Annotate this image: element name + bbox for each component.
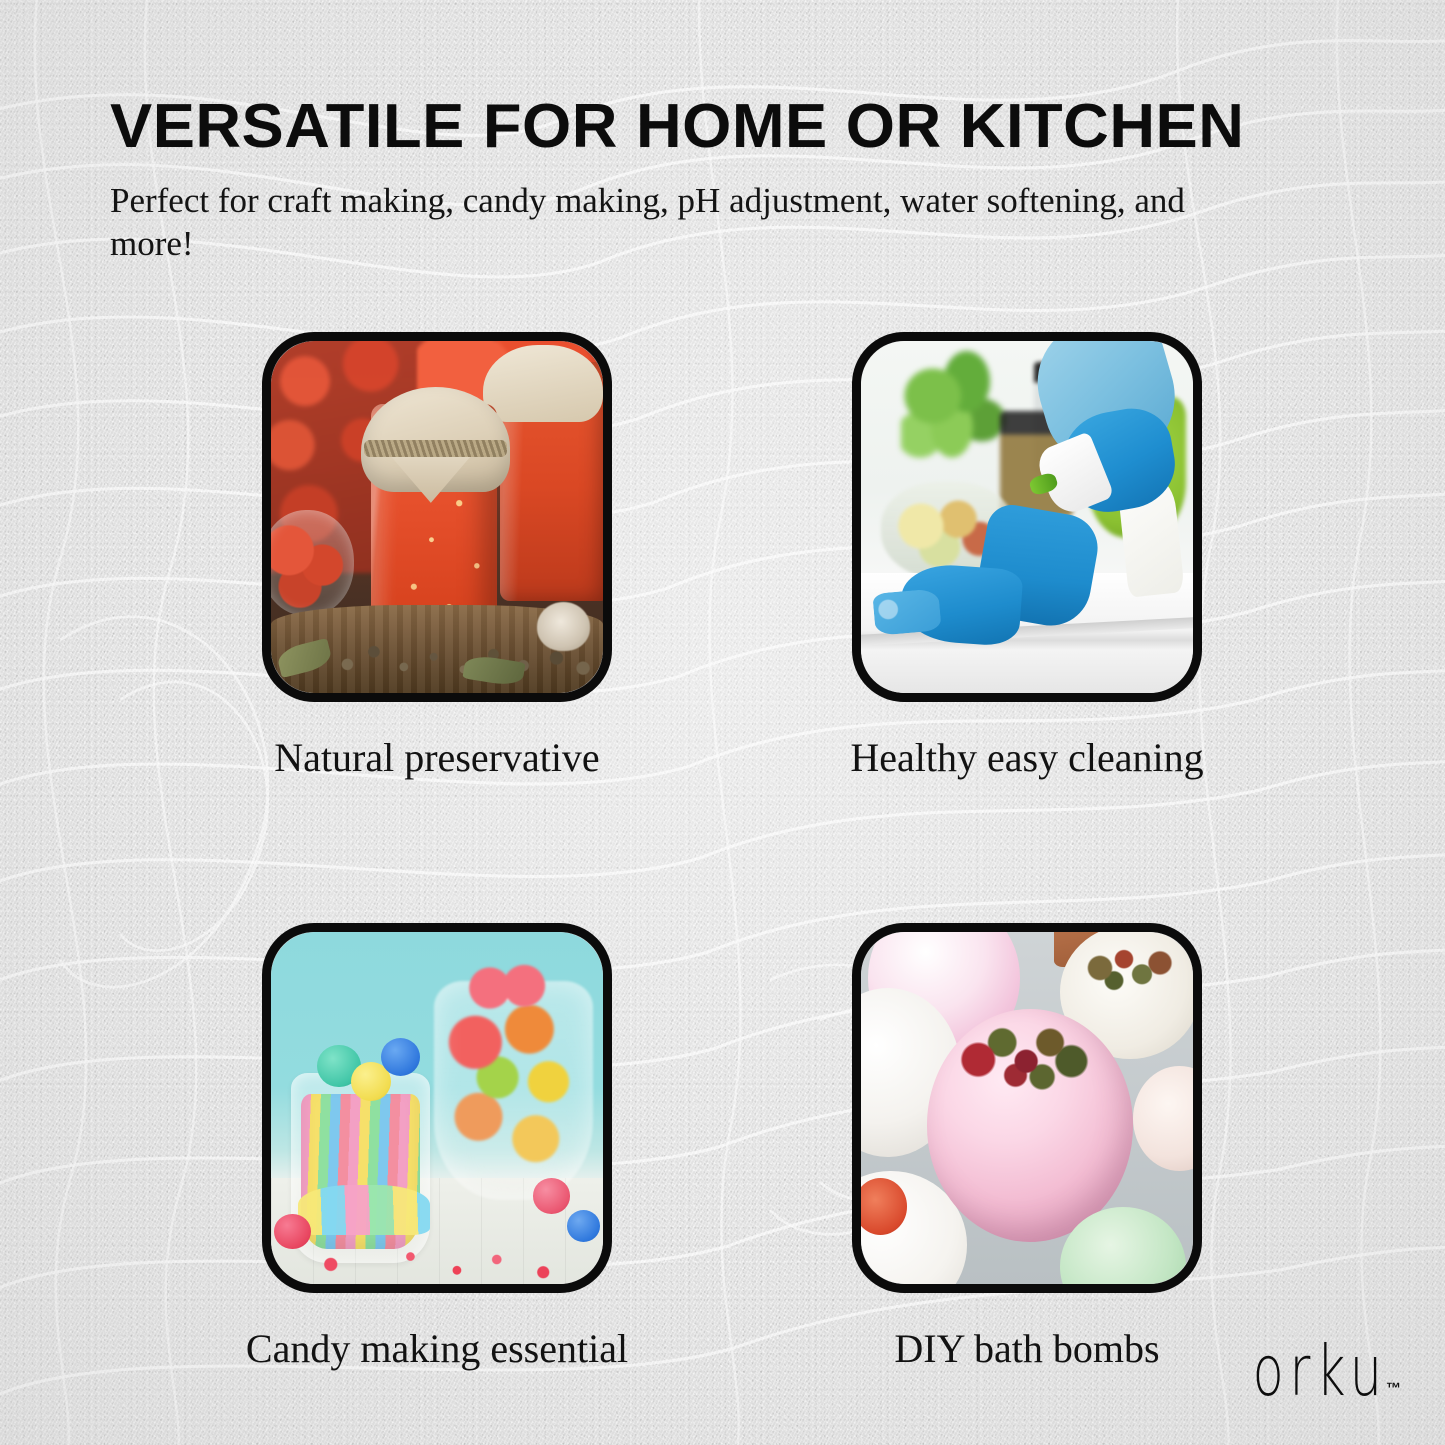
infographic-page: VERSATILE FOR HOME OR KITCHEN Perfect fo…: [0, 0, 1445, 1445]
logo-wordmark: orku: [1253, 1341, 1388, 1403]
cleaning-cloth: [873, 588, 943, 636]
scene-bath: [861, 932, 1193, 1284]
glass-bowl-tomatoes: [271, 510, 354, 616]
feature-cell-cleaning: Healthy easy cleaning: [852, 332, 1202, 780]
feature-image-preservative: [262, 332, 612, 702]
scene-candy: [271, 932, 603, 1284]
feature-cell-preservative: Natural preservative: [262, 332, 612, 780]
brand-logo: orku ™: [1223, 1347, 1401, 1403]
feature-image-cleaning: [852, 332, 1202, 702]
feature-caption: Healthy easy cleaning: [850, 702, 1203, 780]
header-block: VERSATILE FOR HOME OR KITCHEN Perfect fo…: [110, 96, 1350, 265]
scattered-candies: [271, 1235, 603, 1284]
green-plant: [901, 348, 1007, 468]
main-dried-rose-petals: [957, 1016, 1090, 1093]
feature-image-bath-bombs: [852, 923, 1202, 1293]
top-right-dried-petals: [1080, 939, 1180, 1002]
page-title: VERSATILE FOR HOME OR KITCHEN: [110, 96, 1375, 158]
preserved-tomatoes-photo: [271, 341, 603, 693]
feature-caption: DIY bath bombs: [894, 1293, 1159, 1371]
scene-preserve: [271, 341, 603, 693]
kitchen-cleaning-photo: [861, 341, 1193, 693]
feature-grid: Natural preservative: [262, 332, 1202, 1371]
feature-caption: Candy making essential: [246, 1293, 628, 1371]
pink-berry-candy-right: [533, 1178, 570, 1213]
trademark-symbol: ™: [1386, 1380, 1401, 1403]
jar-twine: [364, 440, 507, 458]
candy-jars-photo: [271, 932, 603, 1284]
sour-belt-fold: [298, 1185, 431, 1234]
feature-row-top: Natural preservative: [262, 332, 1202, 780]
feature-cell-bath-bombs: DIY bath bombs: [852, 923, 1202, 1371]
feature-image-candy: [262, 923, 612, 1293]
bath-bombs-photo: [861, 932, 1193, 1284]
blue-gumdrop: [381, 1038, 421, 1077]
feature-cell-candy: Candy making essential: [262, 923, 612, 1371]
garlic-bulb: [537, 602, 590, 651]
page-subtitle: Perfect for craft making, candy making, …: [110, 158, 1270, 265]
scene-clean: [861, 341, 1193, 693]
feature-row-bottom: Candy making essential: [262, 923, 1202, 1371]
pink-ribbon-bow: [464, 960, 550, 1016]
pale-bath-bomb-right: [1133, 1066, 1193, 1172]
feature-caption: Natural preservative: [274, 702, 599, 780]
